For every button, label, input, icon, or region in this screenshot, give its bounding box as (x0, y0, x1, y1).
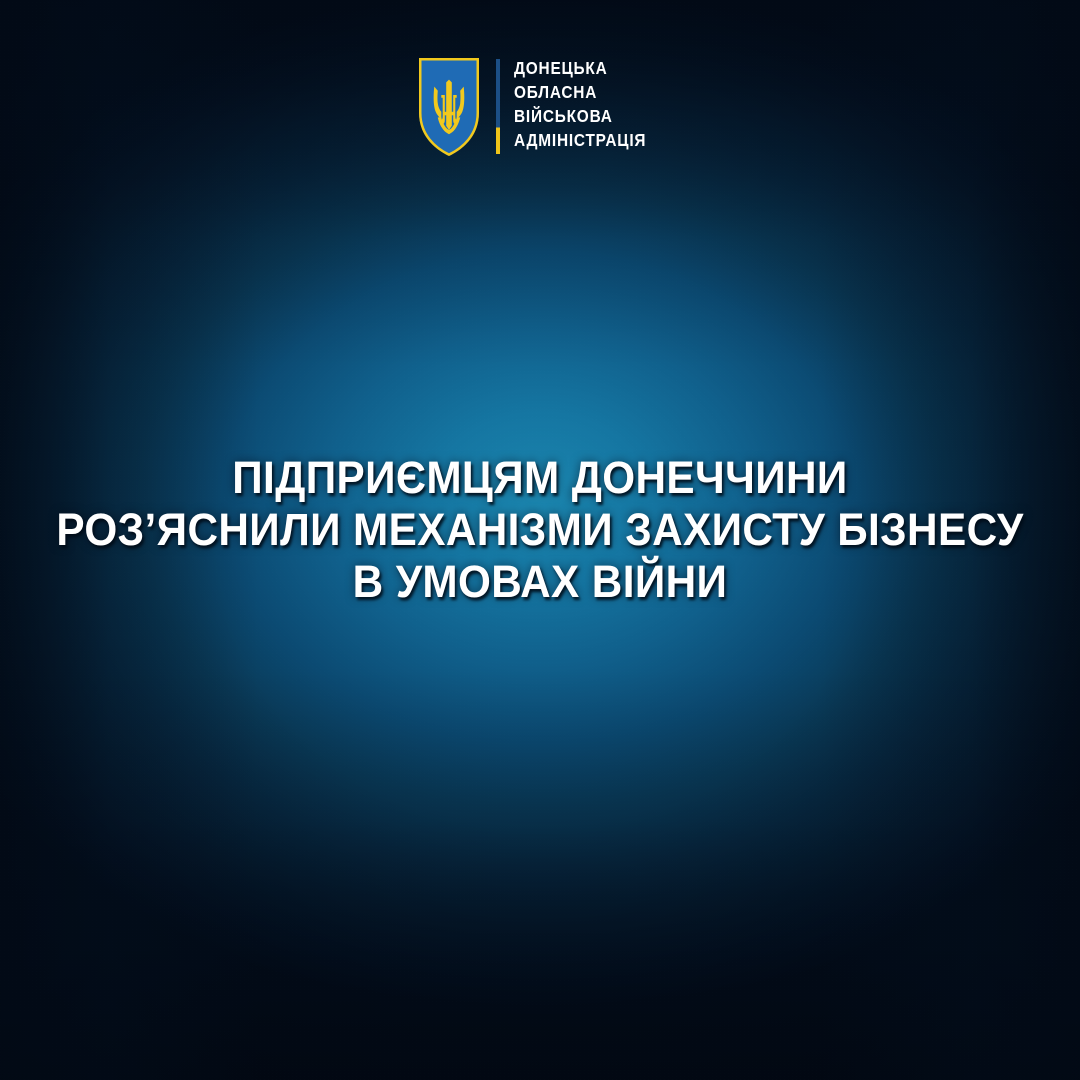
headline-line-3: В УМОВАХ ВІЙНИ (55, 556, 1025, 608)
org-line-4: АДМІНІСТРАЦІЯ (514, 130, 646, 150)
org-line-3: ВІЙСЬКОВА (514, 106, 646, 126)
org-line-2: ОБЛАСНА (514, 82, 646, 102)
organization-logo: ДОНЕЦЬКА ОБЛАСНА ВІЙСЬКОВА АДМІНІСТРАЦІЯ (0, 55, 1080, 159)
headline: ПІДПРИЄМЦЯМ ДОНЕЧЧИНИ РОЗ’ЯСНИЛИ МЕХАНІЗ… (0, 452, 1080, 608)
headline-line-1: ПІДПРИЄМЦЯМ ДОНЕЧЧИНИ (55, 452, 1025, 504)
ukrainian-trident-shield-icon (416, 55, 482, 159)
organization-name: ДОНЕЦЬКА ОБЛАСНА ВІЙСЬКОВА АДМІНІСТРАЦІЯ (514, 58, 664, 150)
org-line-1: ДОНЕЦЬКА (514, 58, 646, 78)
headline-line-2: РОЗ’ЯСНИЛИ МЕХАНІЗМИ ЗАХИСТУ БІЗНЕСУ (55, 504, 1025, 556)
logo-divider (496, 59, 500, 154)
announcement-poster: ДОНЕЦЬКА ОБЛАСНА ВІЙСЬКОВА АДМІНІСТРАЦІЯ… (0, 0, 1080, 1080)
